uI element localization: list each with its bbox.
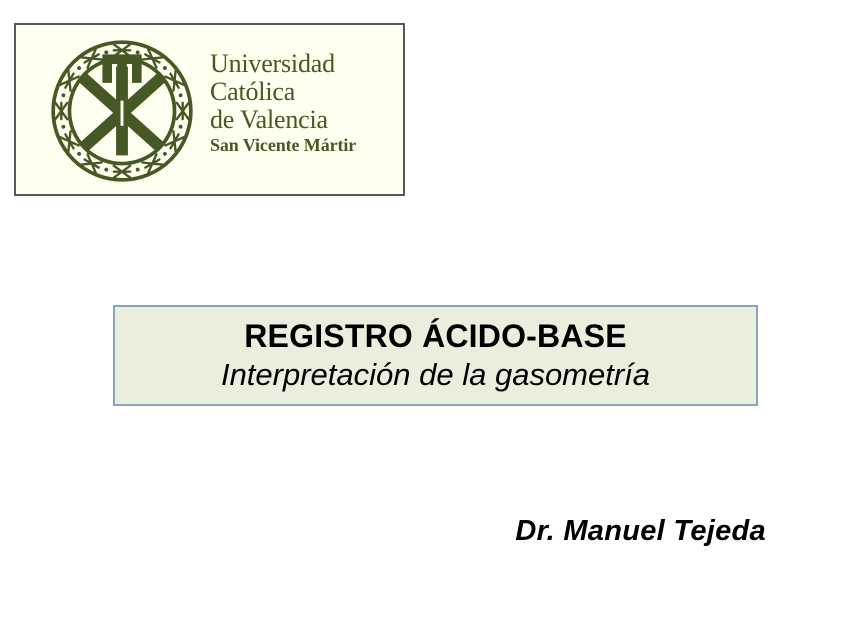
- page-title: REGISTRO ÁCIDO-BASE: [244, 319, 627, 354]
- chi-rho-emblem-icon: [48, 37, 196, 185]
- presentation-slide: Universidad Católica de Valencia San Vic…: [0, 0, 848, 636]
- page-subtitle: Interpretación de la gasometría: [221, 357, 650, 393]
- author-name: Dr. Manuel Tejeda: [0, 515, 766, 548]
- university-wordmark: Universidad Católica de Valencia San Vic…: [210, 51, 400, 154]
- wordmark-line-1: Universidad: [210, 51, 400, 77]
- wordmark-subtitle: San Vicente Mártir: [210, 136, 400, 154]
- wordmark-line-2: Católica: [210, 79, 400, 105]
- slide-title-box: REGISTRO ÁCIDO-BASE Interpretación de la…: [113, 305, 758, 406]
- wordmark-line-3: de Valencia: [210, 107, 400, 133]
- university-logo-box: Universidad Católica de Valencia San Vic…: [14, 23, 405, 196]
